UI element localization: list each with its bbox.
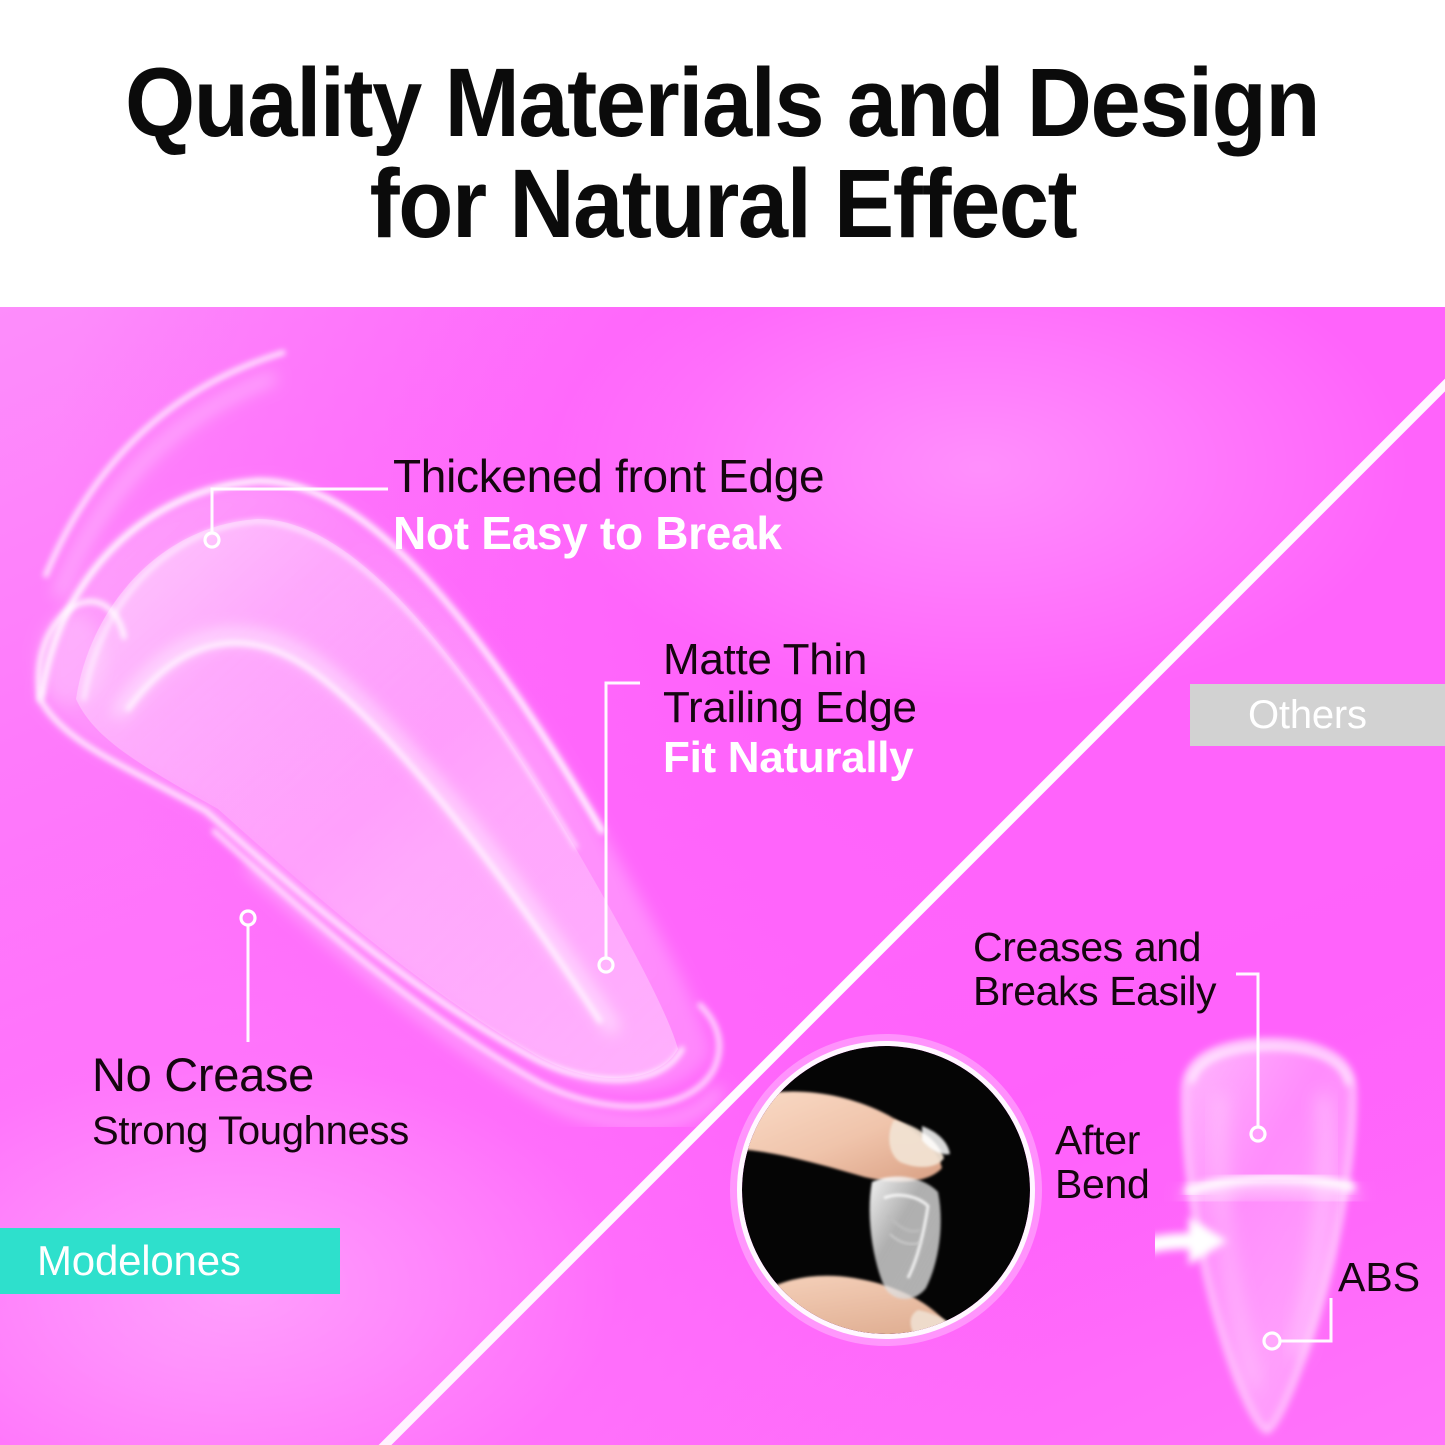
label-thickened-line2: Not Easy to Break: [393, 508, 824, 559]
badge-others-label: Others: [1248, 693, 1367, 738]
label-breaks-line1: Creases and: [973, 925, 1216, 969]
label-breaks-line2: Breaks Easily: [973, 969, 1216, 1013]
label-crease-line1: No Crease: [92, 1050, 409, 1101]
label-thickened-front-edge: Thickened front Edge Not Easy to Break: [393, 452, 824, 558]
page-title-line-2: for Natural Effect: [369, 154, 1076, 255]
label-after-bend: After Bend: [1055, 1118, 1150, 1207]
header-banner: Quality Materials and Design for Natural…: [0, 0, 1445, 307]
badge-modelones-label: Modelones: [37, 1237, 241, 1285]
product-feature-infographic: Quality Materials and Design for Natural…: [0, 0, 1445, 1445]
label-matte-line1: Matte Thin: [663, 636, 917, 684]
label-crease-line2: Strong Toughness: [92, 1110, 409, 1153]
page-title-line-1: Quality Materials and Design: [125, 53, 1319, 154]
badge-others: Others: [1190, 684, 1445, 746]
label-abs-line1: ABS: [1338, 1255, 1420, 1299]
label-thickened-line1: Thickened front Edge: [393, 452, 824, 502]
label-abs: ABS: [1338, 1255, 1420, 1299]
label-after-line2: Bend: [1055, 1162, 1150, 1206]
abs-nail-illustration: [1155, 1025, 1385, 1445]
label-matte-line2: Trailing Edge: [663, 684, 917, 732]
label-creases-breaks-easily: Creases and Breaks Easily: [973, 925, 1216, 1014]
pinch-photo-inset: [742, 1046, 1030, 1334]
label-after-line1: After: [1055, 1118, 1150, 1162]
clear-nail-tip-illustration: [0, 307, 760, 1127]
label-matte-line3: Fit Naturally: [663, 734, 917, 782]
badge-modelones: Modelones: [0, 1228, 340, 1294]
label-no-crease: No Crease Strong Toughness: [92, 1050, 409, 1153]
fingers-pinching-nail-photo: [742, 1046, 1030, 1334]
label-matte-thin-trailing-edge: Matte Thin Trailing Edge Fit Naturally: [663, 636, 917, 782]
